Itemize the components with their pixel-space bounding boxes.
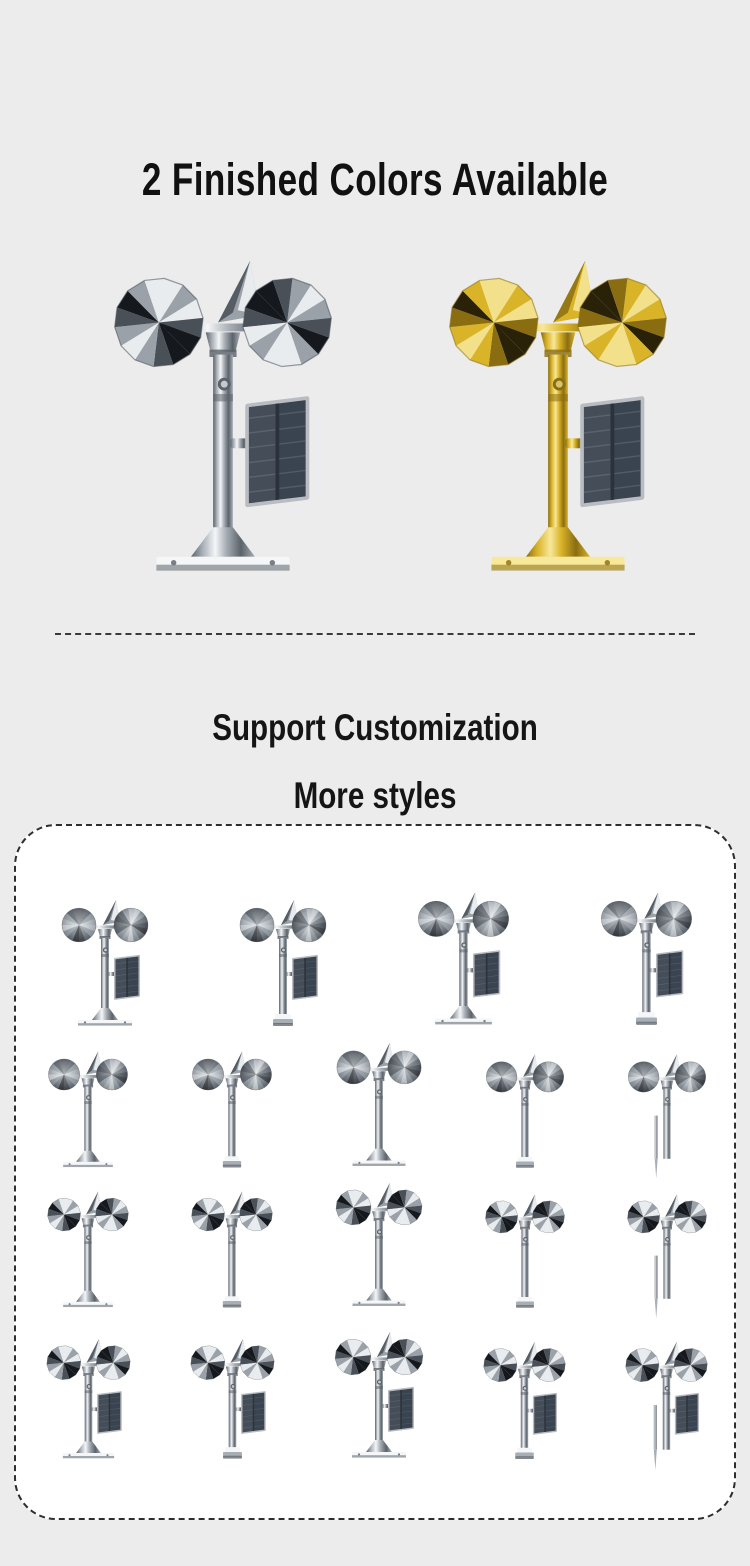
gallery-row-2 bbox=[16, 1044, 738, 1184]
hero-product-row bbox=[0, 246, 750, 616]
page-title: 2 Finished Colors Available bbox=[83, 154, 668, 206]
anemometer-illustration bbox=[41, 1333, 136, 1476]
gallery-item[interactable] bbox=[42, 1046, 134, 1184]
gallery-item[interactable] bbox=[55, 894, 155, 1044]
gallery-item[interactable] bbox=[594, 886, 699, 1044]
anemometer-illustration bbox=[411, 886, 516, 1044]
anemometer-illustration bbox=[620, 1336, 713, 1476]
gallery-item[interactable] bbox=[186, 1046, 278, 1184]
anemometer-illustration bbox=[186, 1186, 278, 1324]
anemometer-illustration bbox=[594, 886, 699, 1044]
product-detail-page: 2 Finished Colors Available Su bbox=[0, 0, 750, 1566]
gallery-item[interactable] bbox=[620, 1336, 713, 1476]
gallery-item[interactable] bbox=[478, 1336, 571, 1476]
anemometer-illustration bbox=[622, 1049, 712, 1184]
gallery-item[interactable] bbox=[480, 1189, 570, 1324]
anemometer-illustration bbox=[329, 1326, 429, 1476]
anemometer-illustration bbox=[42, 1046, 134, 1184]
anemometer-illustration bbox=[622, 1189, 712, 1324]
gallery-item[interactable] bbox=[330, 1177, 428, 1324]
hero-product-silver bbox=[58, 246, 388, 616]
gallery-item[interactable] bbox=[41, 1333, 136, 1476]
gallery-row-1 bbox=[16, 874, 738, 1044]
anemometer-illustration bbox=[480, 1049, 570, 1184]
anemometer-illustration bbox=[42, 1186, 134, 1324]
gallery-item[interactable] bbox=[42, 1186, 134, 1324]
gallery-item[interactable] bbox=[330, 1037, 428, 1184]
anemometer-illustration bbox=[480, 1189, 570, 1324]
anemometer-illustration bbox=[330, 1037, 428, 1184]
gallery-item[interactable] bbox=[233, 894, 333, 1044]
anemometer-illustration bbox=[55, 894, 155, 1044]
anemometer-illustration bbox=[408, 246, 708, 616]
gallery-item[interactable] bbox=[480, 1049, 570, 1184]
gallery-item[interactable] bbox=[185, 1333, 280, 1476]
anemometer-illustration bbox=[186, 1046, 278, 1184]
subtitle-support-customization: Support Customization bbox=[75, 707, 675, 749]
hero-product-gold bbox=[408, 246, 708, 616]
gallery-item[interactable] bbox=[186, 1186, 278, 1324]
gallery-row-3 bbox=[16, 1184, 738, 1324]
anemometer-illustration bbox=[58, 246, 388, 616]
subtitle-more-styles: More styles bbox=[75, 775, 675, 817]
gallery-item[interactable] bbox=[622, 1049, 712, 1184]
styles-gallery-card bbox=[14, 824, 736, 1520]
anemometer-illustration bbox=[185, 1333, 280, 1476]
gallery-row-4 bbox=[16, 1316, 738, 1476]
gallery-item[interactable] bbox=[622, 1189, 712, 1324]
anemometer-illustration bbox=[478, 1336, 571, 1476]
gallery-item[interactable] bbox=[411, 886, 516, 1044]
gallery-item[interactable] bbox=[329, 1326, 429, 1476]
anemometer-illustration bbox=[330, 1177, 428, 1324]
anemometer-illustration bbox=[233, 894, 333, 1044]
dashed-divider bbox=[55, 633, 695, 635]
